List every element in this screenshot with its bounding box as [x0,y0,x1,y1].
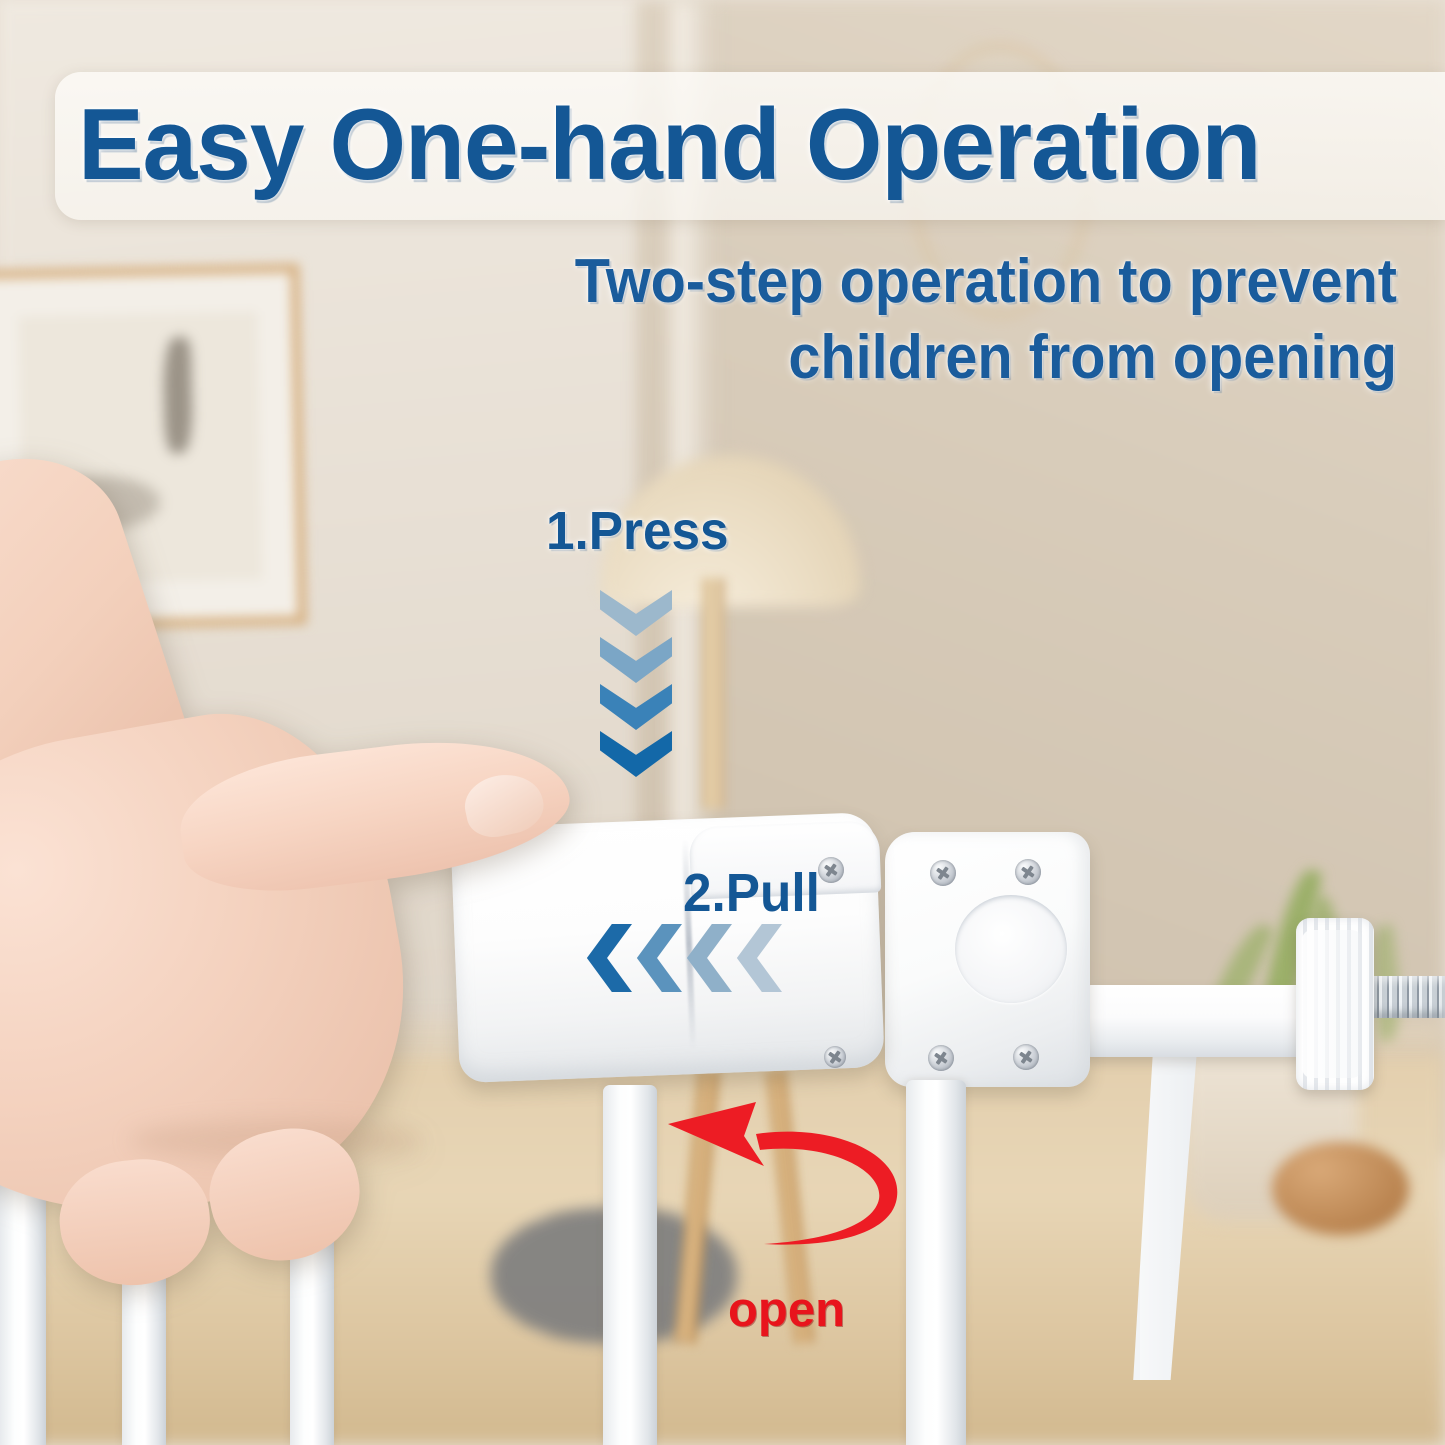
phillips-screw-icon [824,1046,846,1068]
page-subtitle: Two-step operation to prevent children f… [467,244,1397,395]
chevron-left-icon [584,924,632,992]
page-title: Easy One-hand Operation [78,92,1404,198]
chevron-left-icon [734,924,782,992]
open-curved-arrow-icon [660,1098,930,1273]
press-chevrons-icon [600,590,672,777]
subtitle-line-1: Two-step operation to prevent [467,244,1397,320]
threaded-rod [1362,976,1445,1018]
subtitle-line-2: children from opening [467,320,1397,396]
chevron-down-icon [600,684,672,730]
phillips-screw-icon [930,860,956,886]
step-1-label: 1.Press [546,500,729,562]
open-label: open [728,1282,845,1338]
phillips-screw-icon [1015,859,1041,885]
chevron-down-icon [600,731,672,777]
phillips-screw-icon [818,857,844,883]
lamp-stem [702,578,725,809]
chevron-left-icon [684,924,732,992]
gate-bar [603,1085,657,1445]
wooden-decor-object [1272,1142,1409,1236]
step-2-label: 2.Pull [683,862,820,924]
hand-graphic [0,430,600,1310]
phillips-screw-icon [928,1045,954,1071]
chevron-down-icon [600,637,672,683]
chevron-left-icon [634,924,682,992]
product-feature-image: 1.Press 2.Pull open Easy One-hand Operat… [0,0,1445,1445]
horizontal-mount-tube [1085,985,1315,1057]
hinge-boss-circle [955,895,1067,1003]
phillips-screw-icon [1013,1044,1039,1070]
thumb-knob-face [1302,930,1362,1078]
pull-chevrons-icon [584,924,782,992]
chevron-down-icon [600,590,672,636]
